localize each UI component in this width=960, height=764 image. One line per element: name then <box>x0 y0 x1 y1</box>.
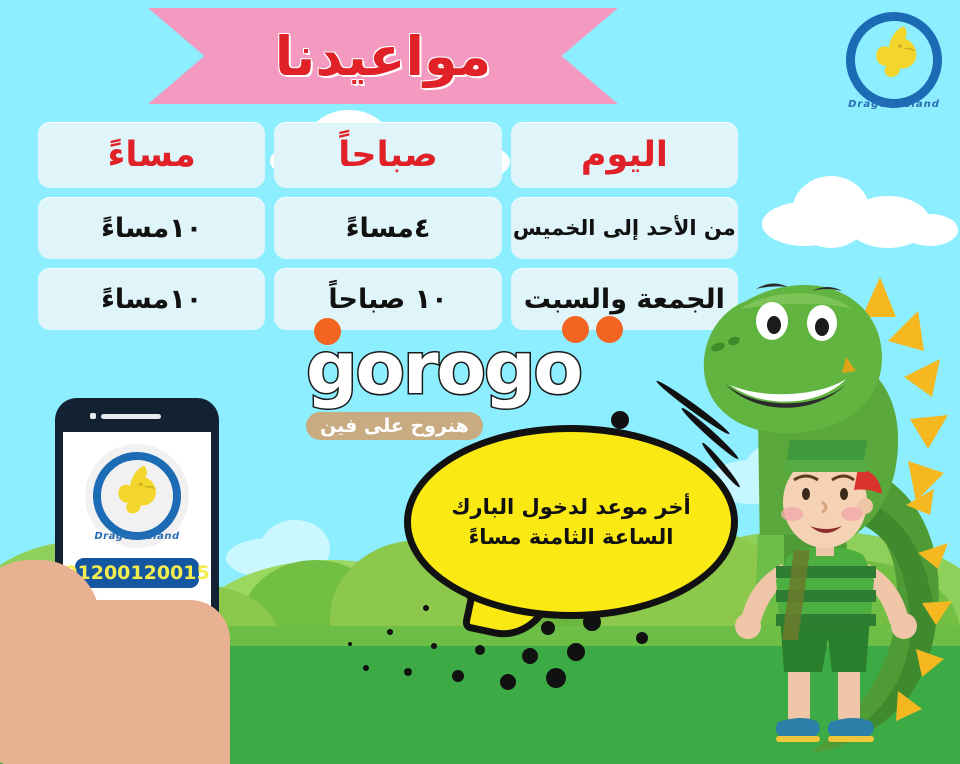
poster-canvas: Dragon Island 01200120015 مواعيدنا <box>0 0 960 764</box>
row1-evening-cell: ١٠مساءً <box>38 197 265 259</box>
logo-caption: Dragon Island <box>840 99 948 110</box>
row1-evening-text: ١٠مساءً <box>101 215 202 242</box>
table-row: من الأحد إلى الخميس ٤مساءً ١٠مساءً <box>38 197 738 259</box>
notice-line-2: الساعة الثامنة مساءً <box>469 525 674 549</box>
header-day-text: اليوم <box>581 138 668 173</box>
table-header-day: اليوم <box>511 122 738 188</box>
row1-morning-cell: ٤مساءً <box>274 197 501 259</box>
dragon-island-logo: Dragon Island <box>840 6 948 114</box>
watermark-tagline-text: هنروح على فين <box>320 415 469 437</box>
row2-evening-cell: ١٠مساءً <box>38 268 265 330</box>
boy-character-illustration <box>732 440 922 760</box>
header-evening-text: مساءً <box>108 138 196 173</box>
watermark: gorogo هنروح على فين <box>306 336 581 401</box>
row2-day-text: الجمعة والسبت <box>524 286 725 313</box>
watermark-text: gorogo <box>306 336 581 401</box>
row2-evening-text: ١٠مساءً <box>101 286 202 313</box>
table-header-evening: مساءً <box>38 122 265 188</box>
table-header-morning: صباحاً <box>274 122 501 188</box>
phone-camera-icon <box>90 413 96 419</box>
table-header-row: اليوم صباحاً مساءً <box>38 122 738 188</box>
phone-number-badge: 01200120015 <box>75 558 199 588</box>
watermark-dot-left <box>314 318 341 345</box>
thumb <box>96 658 162 754</box>
row1-morning-text: ٤مساءً <box>346 215 431 242</box>
dragon-head-icon <box>864 20 926 82</box>
speech-bubble: أخر موعد لدخول البارك الساعة الثامنة مسا… <box>404 425 738 619</box>
header-morning-text: صباحاً <box>338 138 438 173</box>
schedule-table: اليوم صباحاً مساءً من الأحد إلى الخميس ٤… <box>38 122 738 339</box>
row2-morning-text: ١٠ صباحاً <box>328 286 447 313</box>
watermark-dot-right <box>562 316 589 343</box>
watermark-tagline-box: هنروح على فين <box>306 412 483 440</box>
phone-speaker-icon <box>101 414 161 419</box>
notice-line-1: أخر موعد لدخول البارك <box>451 495 690 519</box>
notice-text: أخر موعد لدخول البارك الساعة الثامنة مسا… <box>433 492 708 553</box>
row2-morning-cell: ١٠ صباحاً <box>274 268 501 330</box>
dragon-head-icon <box>107 460 165 518</box>
phone-logo: Dragon Island <box>85 444 189 548</box>
phone-logo-caption: Dragon Island <box>85 531 189 542</box>
page-title-text: مواعيدنا <box>275 25 491 88</box>
page-title: مواعيدنا <box>148 8 618 104</box>
watermark-dot-right-2 <box>596 316 623 343</box>
table-row: الجمعة والسبت ١٠ صباحاً ١٠مساءً <box>38 268 738 330</box>
